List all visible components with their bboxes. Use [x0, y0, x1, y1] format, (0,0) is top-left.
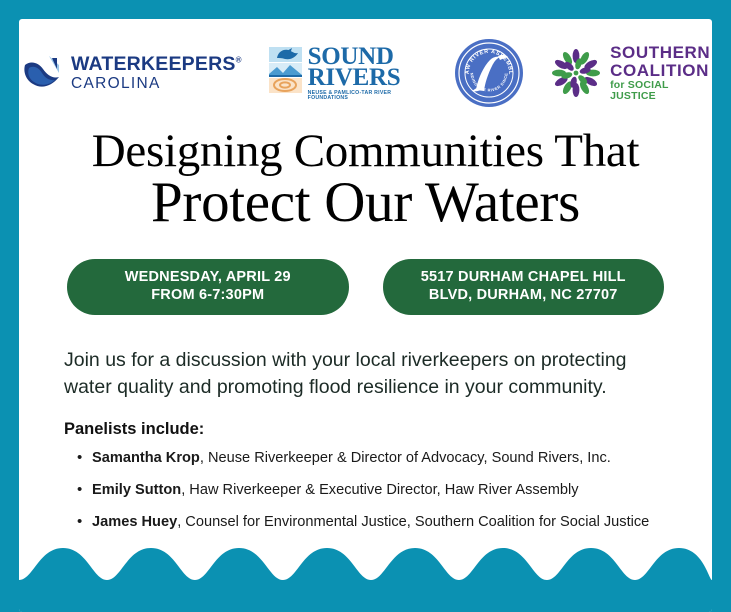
event-time: FROM 6-7:30PM — [151, 287, 264, 305]
list-item: Samantha Krop, Neuse Riverkeeper & Direc… — [92, 449, 682, 468]
southern-coalition-wordmark: SOUTHERN COALITION for SOCIAL JUSTICE — [610, 44, 712, 101]
logo-haw-river-assembly: HAW RIVER ASSEMBLY DEFENDING THE RIVER S… — [454, 38, 524, 108]
event-address-line-2: BLVD, DURHAM, NC 27707 — [429, 287, 618, 305]
panelist-name: Samantha Krop — [92, 450, 200, 466]
waterkeepers-wave-icon — [19, 51, 63, 95]
panelist-role: , Neuse Riverkeeper & Director of Advoca… — [200, 450, 611, 466]
event-description: Join us for a discussion with your local… — [64, 347, 667, 401]
description-line-1: Join us for a discussion with your local… — [64, 347, 667, 374]
panelist-role: , Counsel for Environmental Justice, Sou… — [177, 514, 649, 530]
southern-coalition-line1: SOUTHERN — [610, 44, 712, 61]
waterkeepers-wordmark: WATERKEEPERS® CAROLINA — [71, 55, 242, 92]
panelist-name: Emily Sutton — [92, 482, 181, 498]
panelist-name: James Huey — [92, 514, 177, 530]
southern-coalition-line3: for SOCIAL JUSTICE — [610, 80, 712, 101]
wave-shape-icon — [19, 540, 712, 612]
sound-rivers-bird-icon — [268, 46, 303, 94]
waterkeepers-sub: CAROLINA — [71, 76, 242, 92]
list-item: James Huey, Counsel for Environmental Ju… — [92, 513, 682, 532]
panelists-list: Samantha Krop, Neuse Riverkeeper & Direc… — [64, 449, 682, 545]
wave-decoration — [19, 540, 712, 612]
event-address-line-1: 5517 DURHAM CHAPEL HILL — [421, 269, 626, 287]
event-location-badge: 5517 DURHAM CHAPEL HILL BLVD, DURHAM, NC… — [383, 259, 665, 315]
description-line-2: water quality and promoting flood resili… — [64, 374, 667, 401]
list-item: Emily Sutton, Haw Riverkeeper & Executiv… — [92, 481, 682, 500]
event-details-row: WEDNESDAY, APRIL 29 FROM 6-7:30PM 5517 D… — [67, 259, 664, 315]
title-line-2: Protect Our Waters — [19, 174, 712, 232]
southern-coalition-burst-icon — [550, 47, 602, 99]
event-date: WEDNESDAY, APRIL 29 — [125, 269, 291, 287]
event-flyer: WATERKEEPERS® CAROLINA — [0, 0, 731, 612]
haw-river-assembly-seal-icon: HAW RIVER ASSEMBLY DEFENDING THE RIVER S… — [454, 38, 524, 108]
partner-logos-row: WATERKEEPERS® CAROLINA — [19, 36, 712, 110]
waterkeepers-name: WATERKEEPERS® — [71, 55, 242, 75]
sound-rivers-wordmark: SOUND RIVERS NEUSE & PAMLICO-TAR RIVER F… — [308, 46, 428, 100]
sound-rivers-word2: RIVERS — [308, 67, 428, 88]
event-datetime-badge: WEDNESDAY, APRIL 29 FROM 6-7:30PM — [67, 259, 349, 315]
registered-mark: ® — [236, 55, 242, 64]
panelists-heading: Panelists include: — [64, 420, 204, 439]
logo-southern-coalition: SOUTHERN COALITION for SOCIAL JUSTICE — [550, 44, 712, 101]
southern-coalition-line2: COALITION — [610, 62, 712, 79]
flyer-content-area: WATERKEEPERS® CAROLINA — [19, 19, 712, 612]
logo-sound-rivers: SOUND RIVERS NEUSE & PAMLICO-TAR RIVER F… — [268, 46, 428, 100]
panelist-role: , Haw Riverkeeper & Executive Director, … — [181, 482, 578, 498]
page-title: Designing Communities That Protect Our W… — [19, 127, 712, 232]
logo-waterkeepers-carolina: WATERKEEPERS® CAROLINA — [19, 51, 242, 95]
title-line-1: Designing Communities That — [19, 127, 712, 176]
sound-rivers-tagline: NEUSE & PAMLICO-TAR RIVER FOUNDATIONS — [308, 91, 428, 100]
